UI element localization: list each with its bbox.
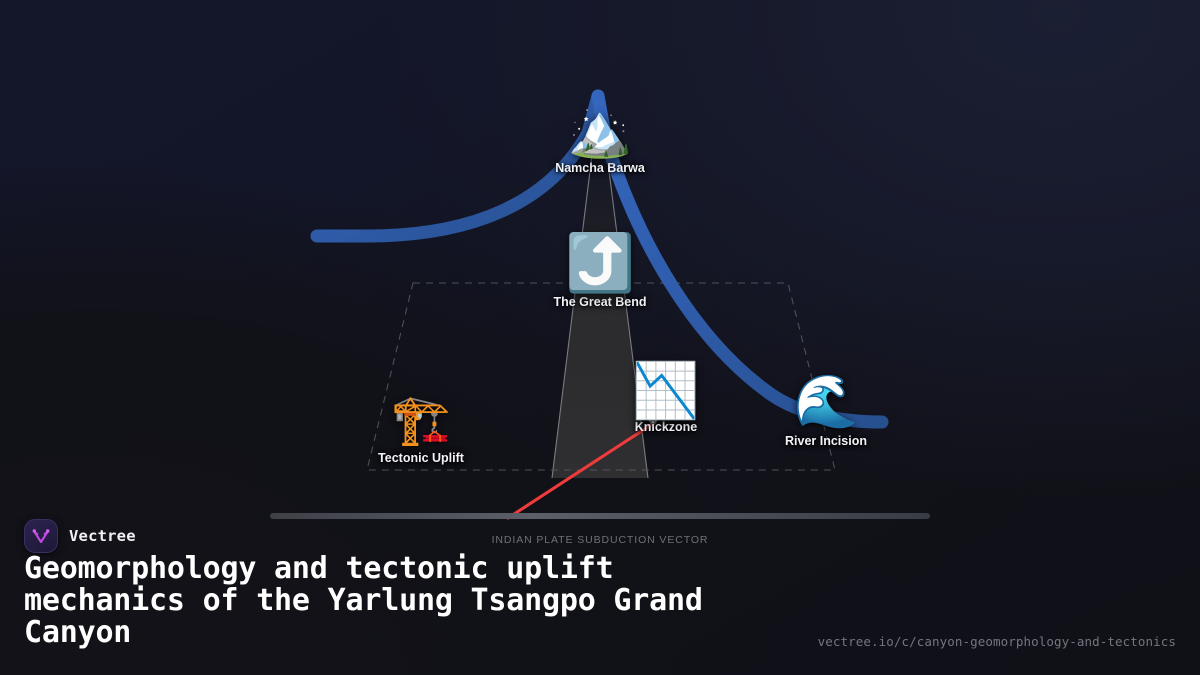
diagram-node-knickzone[interactable]: 📉 Knickzone: [632, 364, 699, 434]
infographic-canvas: 🏔️ Namcha Barwa ⤴️ The Great Bend 📉 Knic…: [0, 0, 1200, 675]
downward-trend-chart-icon: 📉: [632, 364, 699, 418]
diagram-node-the-great-bend[interactable]: ⤴️ The Great Bend: [553, 235, 646, 309]
page-title: Geomorphology and tectonic uplift mechan…: [24, 553, 784, 649]
footer-bar: Vectree Geomorphology and tectonic uplif…: [0, 505, 1200, 675]
diagram-node-label: Knickzone: [635, 420, 698, 434]
diagram-node-label: The Great Bend: [553, 295, 646, 309]
diagram-node-river-incision[interactable]: 🌊 River Incision: [785, 376, 867, 448]
diagram-node-label: Namcha Barwa: [555, 161, 645, 175]
construction-crane-icon: 🏗️: [391, 397, 451, 445]
footer-url: vectree.io/c/canyon-geomorphology-and-te…: [818, 634, 1176, 649]
brand-name: Vectree: [69, 527, 136, 545]
diagram-node-label: River Incision: [785, 434, 867, 448]
vectree-fork-logo-icon: [24, 519, 58, 553]
brand-lockup[interactable]: Vectree: [24, 519, 136, 553]
diagram-node-namcha-barwa[interactable]: 🏔️ Namcha Barwa: [555, 105, 645, 175]
curved-right-arrow-icon: ⤴️: [565, 235, 635, 291]
diagram-node-label: Tectonic Uplift: [378, 451, 464, 465]
diagram-node-tectonic-uplift[interactable]: 🏗️ Tectonic Uplift: [378, 397, 464, 465]
snow-capped-mountain-icon: 🏔️: [568, 105, 633, 157]
water-wave-icon: 🌊: [794, 376, 859, 428]
